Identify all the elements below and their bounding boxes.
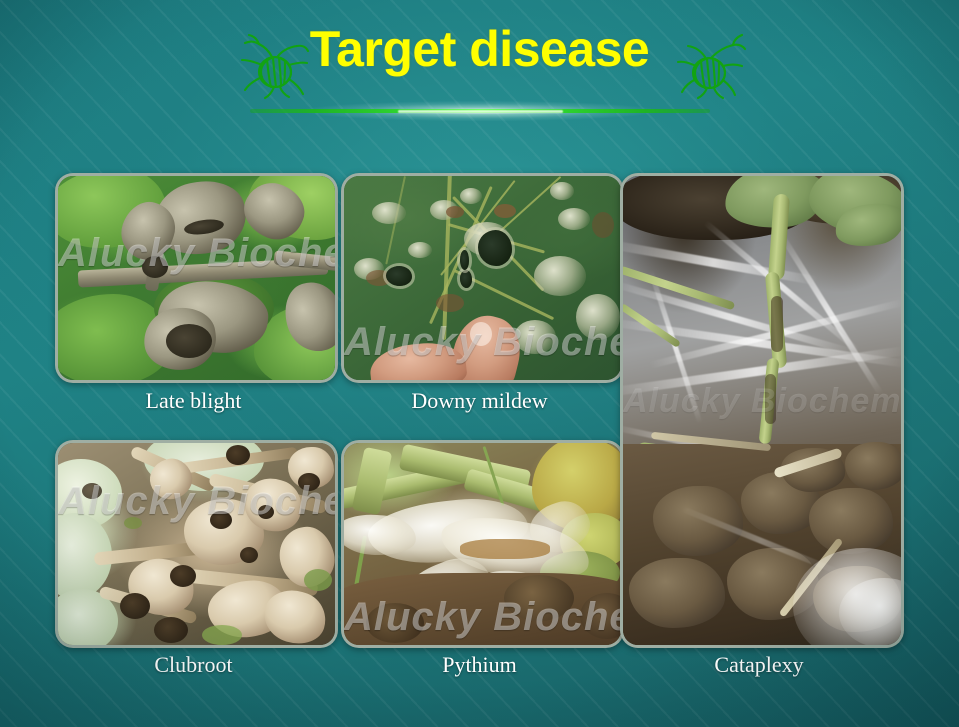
photo-downy-mildew[interactable]: Alucky Biochem [341,173,624,383]
caption-late-blight: Late blight [55,388,332,414]
photo-pythium[interactable]: Alucky Biochem [341,440,624,648]
title-divider [250,100,710,122]
photo-downy-mildew-image: Alucky Biochem [344,176,621,380]
photo-cataplexy[interactable]: Alucky Biochem [620,173,904,648]
caption-clubroot: Clubroot [55,652,332,678]
photo-clubroot[interactable]: Alucky Biochem [55,440,338,648]
photo-pythium-image: Alucky Biochem [344,443,621,645]
caption-downy-mildew: Downy mildew [341,388,618,414]
photo-cataplexy-image: Alucky Biochem [623,176,901,645]
page-title: Target disease [0,22,959,76]
slide-canvas: Target disease [0,0,959,727]
caption-pythium: Pythium [341,652,618,678]
divider-highlight [398,110,563,113]
photo-late-blight[interactable]: Alucky Biochem [55,173,338,383]
photo-late-blight-image: Alucky Biochem [58,176,335,380]
photo-clubroot-image: Alucky Biochem [58,443,335,645]
aphid-insect-icon-right [676,32,748,100]
caption-cataplexy: Cataplexy [620,652,898,678]
